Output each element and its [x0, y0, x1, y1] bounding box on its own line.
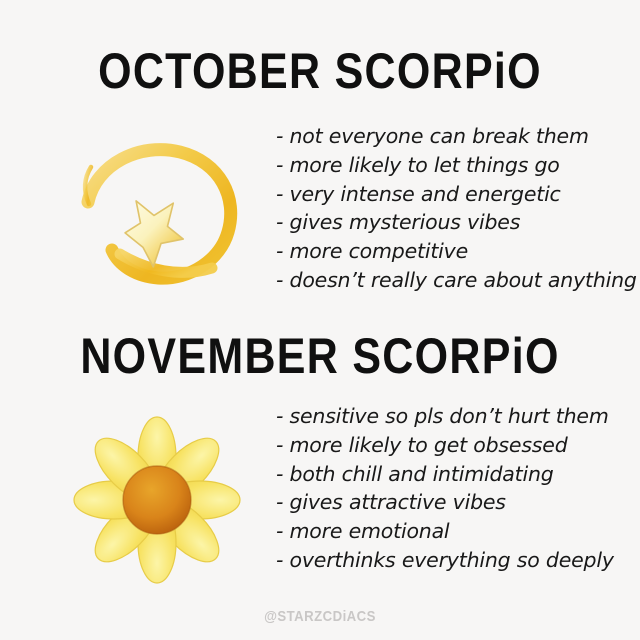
list-item: - more emotional	[276, 517, 614, 546]
list-item: - both chill and intimidating	[276, 460, 614, 489]
list-item: - sensitive so pls don’t hurt them	[276, 402, 614, 431]
dizzy-star-emoji	[62, 128, 252, 303]
list-item: - gives attractive vibes	[276, 488, 614, 517]
blossom-flower-emoji	[62, 412, 252, 587]
list-item: - gives mysterious vibes	[276, 208, 637, 237]
list-item: - more competitive	[276, 237, 637, 266]
trait-list-november: - sensitive so pls don’t hurt them - mor…	[276, 402, 614, 575]
list-item: - more likely to let things go	[276, 151, 637, 180]
list-item: - more likely to get obsessed	[276, 431, 614, 460]
list-item: - very intense and energetic	[276, 180, 637, 209]
heading-october-scorpio: OCTOBER SCORPiO	[45, 44, 595, 98]
watermark-credit: @STARZCDiACS	[38, 608, 601, 625]
heading-november-scorpio: NOVEMBER SCORPiO	[45, 329, 595, 383]
trait-list-october: - not everyone can break them - more lik…	[276, 122, 637, 295]
list-item: - not everyone can break them	[276, 122, 637, 151]
list-item: - doesn’t really care about anything	[276, 266, 637, 295]
zodiac-infographic-card: OCTOBER SCORPiO	[0, 0, 640, 640]
list-item: - overthinks everything so deeply	[276, 546, 614, 575]
